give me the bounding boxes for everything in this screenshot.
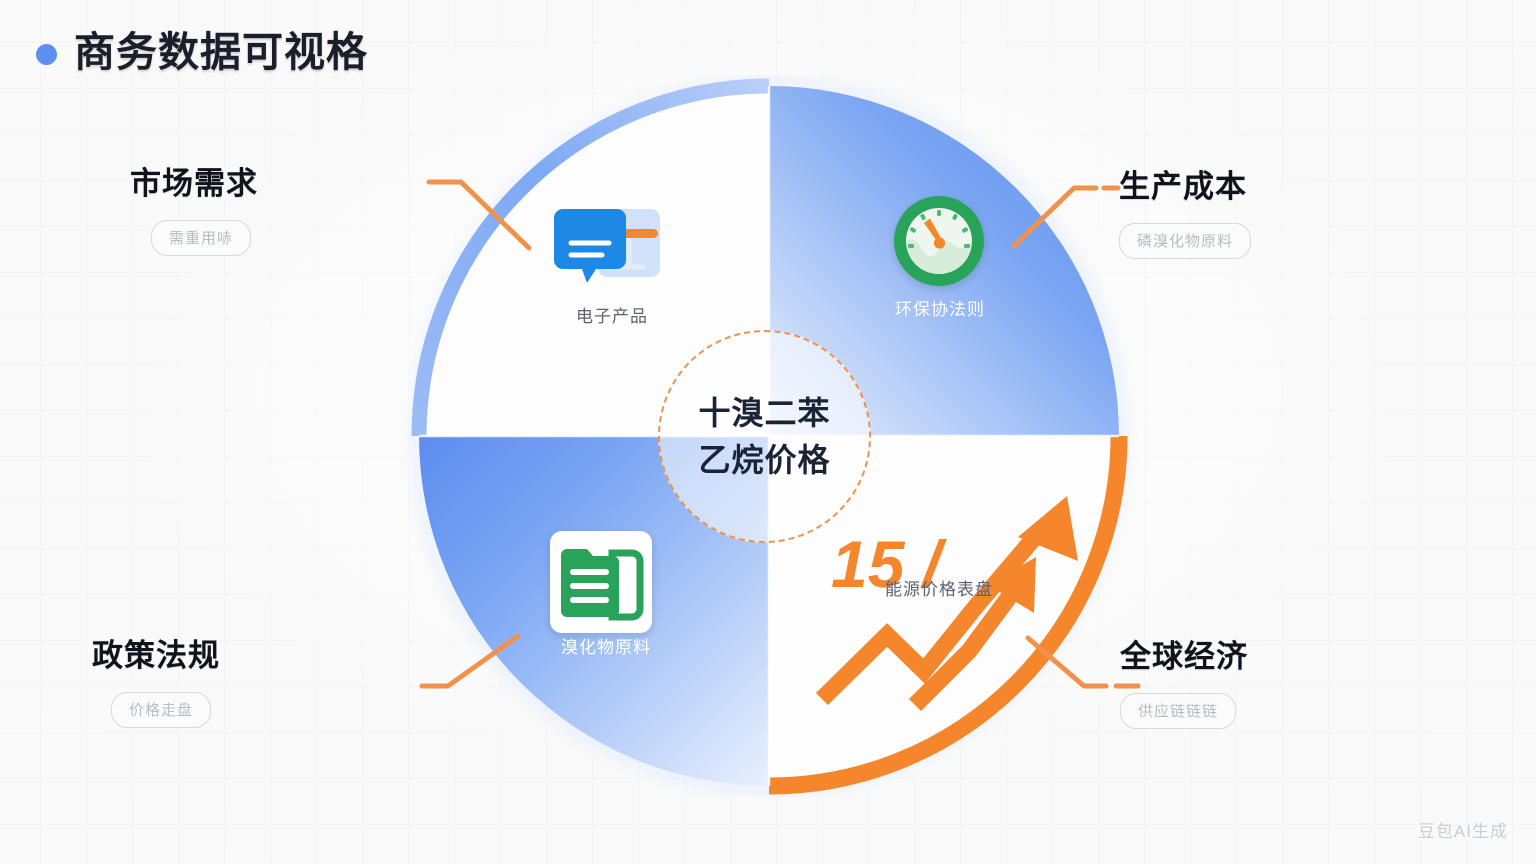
callout-title: 生产成本 (1119, 171, 1247, 202)
callout-tag-badge: 磷溴化物原料 (1119, 223, 1251, 259)
quadrant-bottom-right[interactable]: 能源价格表盘 (844, 475, 1034, 600)
quadrant-top-left[interactable]: 电子产品 (517, 202, 707, 327)
callout-tag-badge: 供应链链链 (1120, 693, 1236, 729)
hub-title-line-1: 十溴二苯 (698, 390, 830, 436)
connector-production-cost (1000, 174, 1120, 252)
hub-title-line-2: 乙烷价格 (698, 437, 830, 483)
quadrant-label-bromide: 溴化物原料 (561, 633, 651, 658)
quadrant-icon-slot (889, 195, 991, 277)
watermark: 豆包AI生成 (1418, 817, 1508, 842)
callout-policy-law[interactable]: 政策法规 价格走盘 (92, 640, 220, 728)
page-title: 商务数据可视格 (74, 32, 368, 73)
center-hub: 十溴二苯 乙烷价格 (658, 330, 871, 543)
callout-market-demand[interactable]: 市场需求 需重用哧 (130, 168, 258, 256)
callout-title: 市场需求 (130, 168, 258, 199)
quadrant-label-energy: 能源价格表盘 (885, 575, 993, 600)
quadrant-icon-slot (561, 202, 663, 284)
callout-global-economy[interactable]: 全球经济 供应链链链 (1120, 641, 1248, 729)
quadrant-label-electronics: 电子产品 (576, 302, 648, 327)
connector-market-demand (425, 176, 545, 254)
title-bullet-icon (36, 44, 57, 65)
quadrant-label-environment: 环保协法则 (895, 295, 985, 320)
quadrant-icon-slot (888, 475, 990, 557)
callout-title: 全球经济 (1120, 641, 1248, 672)
connector-policy-law (420, 630, 540, 692)
callout-title: 政策法规 (92, 640, 220, 671)
callout-tag-badge: 需重用哧 (151, 220, 251, 256)
callout-production-cost[interactable]: 生产成本 磷溴化物原料 (1119, 171, 1251, 259)
page-header: 商务数据可视格 (36, 32, 368, 73)
quadrant-icon-slot (555, 533, 657, 615)
callout-tag-badge: 价格走盘 (111, 692, 211, 728)
